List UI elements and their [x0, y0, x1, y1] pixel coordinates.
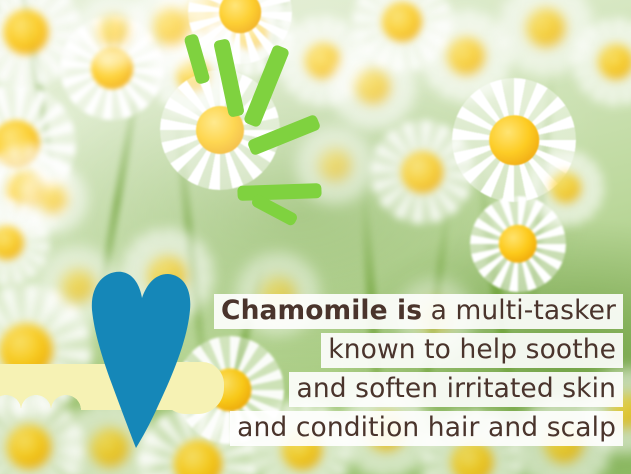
heart-icon [84, 266, 196, 452]
brush-stroke [243, 44, 290, 128]
brush-stroke [183, 33, 210, 85]
headline-line-1: Chamomile is a multi-tasker [214, 294, 623, 329]
brush-stroke [237, 183, 321, 201]
headline-line-4: and condition hair and scalp [230, 411, 623, 446]
headline-line-1-wrap: Chamomile is a multi-tasker [214, 294, 623, 333]
headline-block: Chamomile is a multi-tasker known to hel… [214, 294, 623, 450]
headline-line-2: known to help soothe [321, 333, 623, 368]
promo-poster: Chamomile is a multi-tasker known to hel… [0, 0, 631, 474]
headline-line-2-wrap: known to help soothe [214, 333, 623, 372]
headline-lead: Chamomile is [221, 295, 422, 326]
headline-line-3-wrap: and soften irritated skin [214, 372, 623, 411]
headline-line-3: and soften irritated skin [289, 372, 623, 407]
headline-line-4-wrap: and condition hair and scalp [214, 411, 623, 450]
brush-stroke [213, 38, 245, 118]
headline-line-1-rest: a multi-tasker [422, 295, 616, 326]
